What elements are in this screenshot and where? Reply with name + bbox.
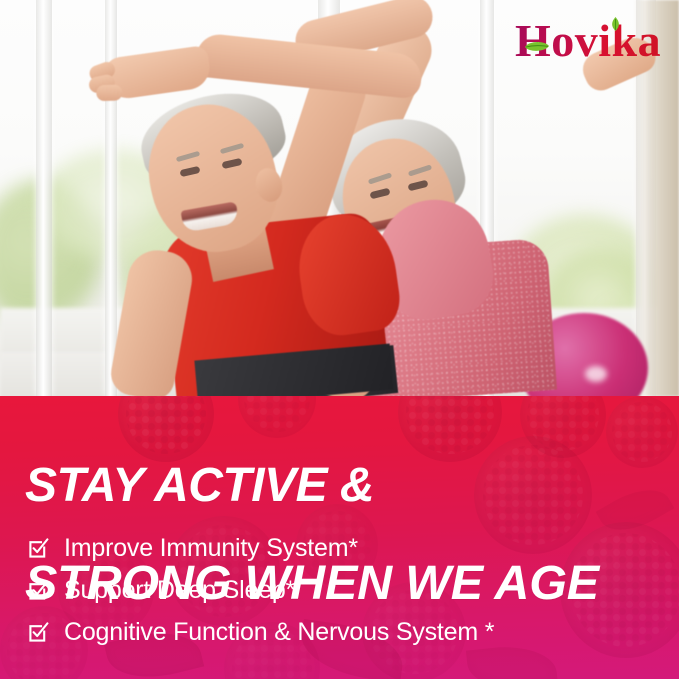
checkbox-checked-icon: [28, 622, 49, 643]
checkbox-checked-icon: [28, 538, 49, 559]
headline-line-1: STAY ACTIVE &: [25, 461, 665, 510]
leaf-icon: [524, 40, 550, 53]
list-item: Support Deep Sleep*: [28, 569, 668, 611]
checkbox-checked-icon: [28, 580, 49, 601]
benefit-label: Support Deep Sleep*: [64, 576, 295, 605]
benefit-label: Cognitive Function & Nervous System *: [64, 618, 494, 647]
list-item: Improve Immunity System*: [28, 527, 668, 569]
senior-man: [0, 0, 420, 396]
benefit-label: Improve Immunity System*: [64, 534, 358, 563]
man-finger: [96, 84, 123, 101]
product-infographic-card: Hovika STAY ACTIVE & STRONG WHEN WE AGE: [0, 0, 679, 679]
brand-logo: Hovika: [515, 18, 661, 64]
leaf-icon: [610, 17, 621, 32]
list-item: Cognitive Function & Nervous System *: [28, 611, 668, 653]
benefits-list: Improve Immunity System* Support Deep Sl…: [28, 527, 668, 653]
man-hand: [102, 45, 213, 101]
